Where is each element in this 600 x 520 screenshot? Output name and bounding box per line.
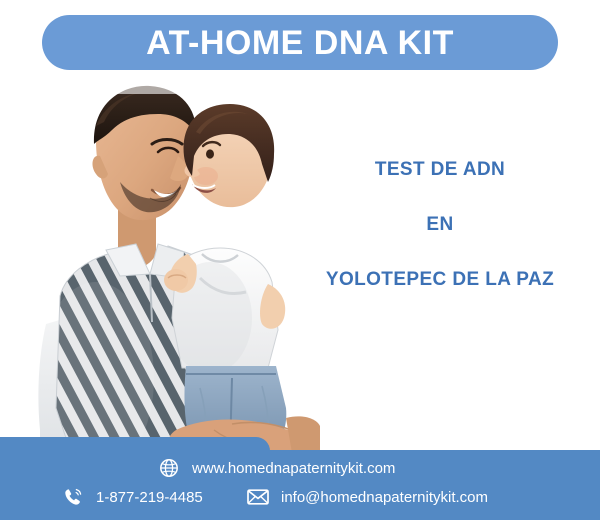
poster-canvas: AT-HOME DNA KIT: [0, 0, 600, 520]
footer-email[interactable]: info@homednapaternitykit.com: [247, 486, 488, 508]
father-and-child-photo: [0, 78, 320, 453]
headline-line-3: YOLOTEPEC DE LA PAZ: [290, 270, 590, 289]
phone-text: 1-877-219-4485: [96, 490, 203, 505]
footer-phone[interactable]: 1-877-219-4485: [62, 486, 203, 508]
globe-icon: [158, 457, 180, 479]
website-text: www.homednapaternitykit.com: [192, 461, 395, 476]
phone-icon: [62, 486, 84, 508]
headline-block: TEST DE ADN EN YOLOTEPEC DE LA PAZ: [290, 160, 590, 289]
footer-website[interactable]: www.homednapaternitykit.com: [158, 457, 395, 479]
header-banner: AT-HOME DNA KIT: [42, 15, 558, 70]
envelope-icon: [247, 486, 269, 508]
headline-line-1: TEST DE ADN: [290, 160, 590, 179]
headline-line-2: EN: [290, 215, 590, 234]
email-text: info@homednapaternitykit.com: [281, 490, 488, 505]
page-title: AT-HOME DNA KIT: [146, 26, 454, 60]
